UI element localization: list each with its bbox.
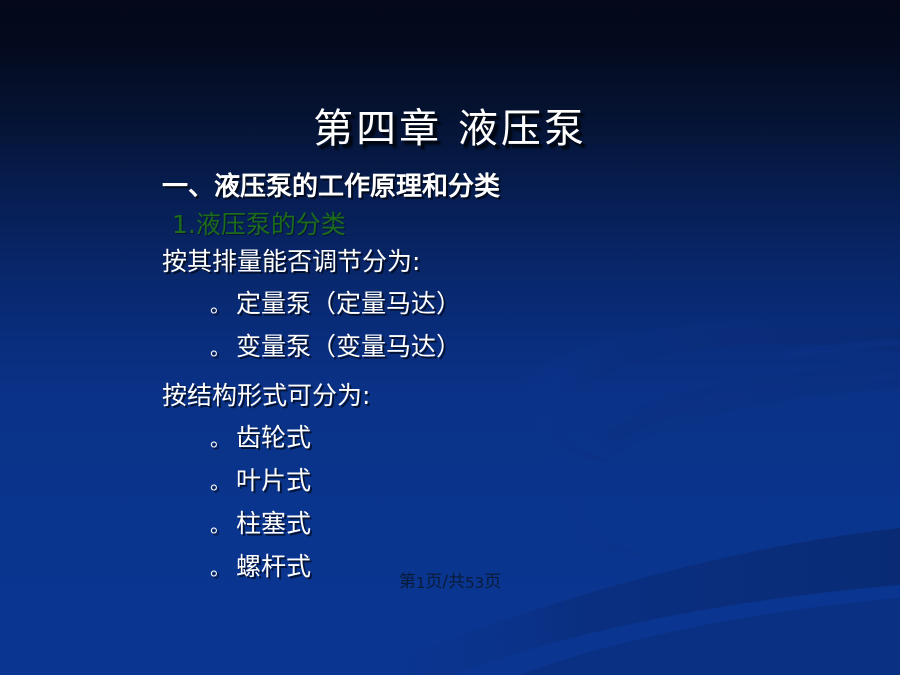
bullet-icon: 。	[210, 472, 236, 492]
group1-label: 按其排量能否调节分为:	[162, 249, 798, 291]
footer-current-page: 1	[416, 574, 426, 592]
footer-prefix: 第	[399, 572, 416, 592]
slide-title: 第四章 液压泵	[0, 96, 900, 154]
list-item: 。 定量泵（定量马达）	[210, 291, 798, 334]
bullet-icon: 。	[210, 295, 236, 315]
bullet-icon: 。	[210, 338, 236, 358]
list-item: 。 齿轮式	[210, 425, 798, 468]
presentation-slide: 第四章 液压泵 一、液压泵的工作原理和分类 1.液压泵的分类 按其排量能否调节分…	[0, 0, 900, 675]
list-item: 。 变量泵（变量马达）	[210, 334, 798, 377]
footer-total-pages: 53	[465, 574, 484, 592]
list-item-label: 叶片式	[236, 468, 311, 493]
list-item-label: 齿轮式	[236, 425, 311, 450]
group2-label: 按结构形式可分为:	[162, 383, 798, 425]
slide-body: 一、液压泵的工作原理和分类 1.液压泵的分类 按其排量能否调节分为: 。 定量泵…	[158, 174, 798, 597]
footer-middle: 页/共	[425, 572, 465, 592]
list-item: 。 叶片式	[210, 468, 798, 511]
bullet-icon: 。	[210, 515, 236, 535]
list-item-label: 变量泵（变量马达）	[236, 334, 461, 359]
page-number-footer: 第1页/共53页	[0, 567, 900, 592]
subsection-heading: 1.液压泵的分类	[172, 212, 798, 249]
list-item: 。 柱塞式	[210, 511, 798, 554]
footer-suffix: 页	[484, 572, 501, 592]
section-heading: 一、液压泵的工作原理和分类	[162, 174, 798, 212]
list-item-label: 定量泵（定量马达）	[236, 291, 461, 316]
bullet-icon: 。	[210, 429, 236, 449]
list-item-label: 柱塞式	[236, 511, 311, 536]
